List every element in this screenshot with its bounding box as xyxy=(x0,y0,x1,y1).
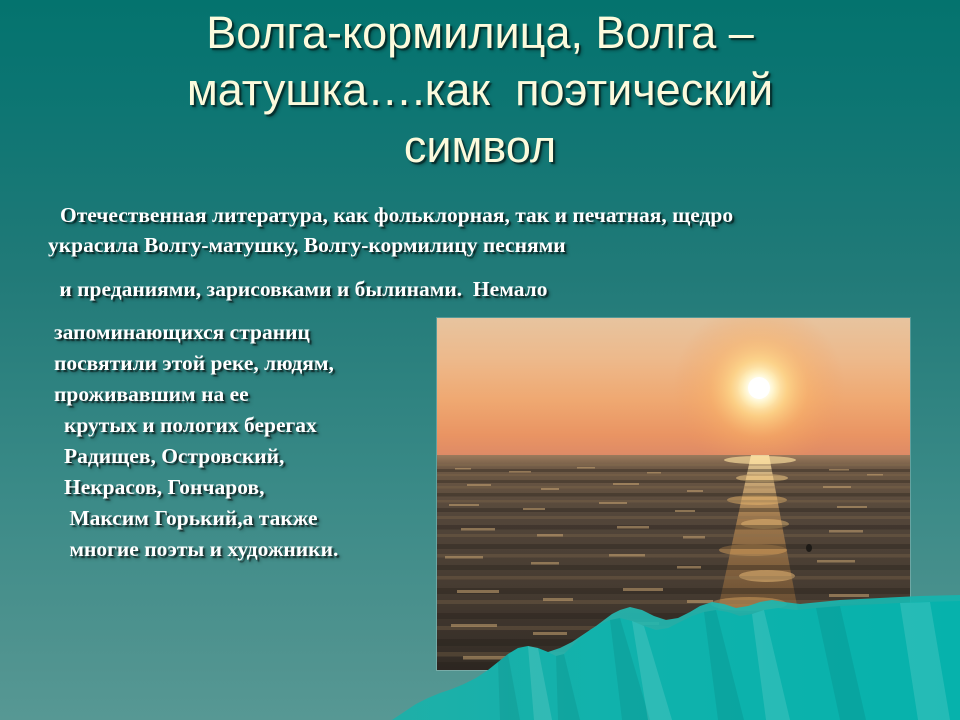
authors-line-7: Максим Горький,а также xyxy=(54,503,424,534)
authors-paragraph: запоминающихся страниц посвятили этой ре… xyxy=(54,317,424,565)
authors-line-4: крутых и пологих берегах xyxy=(54,410,424,441)
authors-line-1: запоминающихся страниц xyxy=(54,317,424,348)
authors-line-5: Радищев, Островский, xyxy=(54,441,424,472)
authors-line-8: многие поэты и художники. xyxy=(54,534,424,565)
slide-canvas: Волга-кормилица, Волга – матушка….как по… xyxy=(0,0,960,720)
authors-line-3: проживавшим на ее xyxy=(54,379,424,410)
sunset-photo xyxy=(437,318,910,670)
page-title: Волга-кормилица, Волга – матушка….как по… xyxy=(0,4,960,175)
intro-line-3: и преданиями, зарисовками и былинами. Не… xyxy=(48,274,928,304)
authors-line-2: посвятили этой реке, людям, xyxy=(54,348,424,379)
intro-line-1: Отечественная литература, как фольклорна… xyxy=(48,200,928,230)
title-line-1: Волга-кормилица, Волга – xyxy=(0,4,960,61)
intro-line-2: украсила Волгу-матушку, Волгу-кормилицу … xyxy=(48,230,928,260)
sunset-photo-graphic xyxy=(437,318,910,670)
intro-paragraph: Отечественная литература, как фольклорна… xyxy=(48,200,928,304)
authors-line-6: Некрасов, Гончаров, xyxy=(54,472,424,503)
title-line-3: символ xyxy=(0,118,960,175)
title-line-2: матушка….как поэтический xyxy=(0,61,960,118)
